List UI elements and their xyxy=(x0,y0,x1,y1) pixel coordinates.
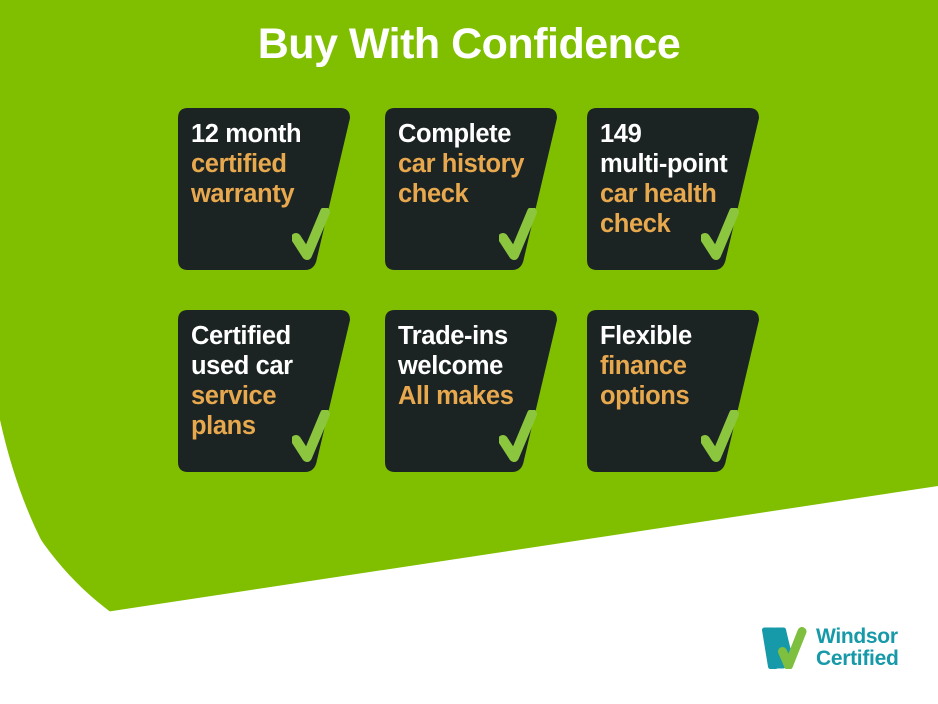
card-text: Flexiblefinanceoptions xyxy=(600,321,751,411)
logo-wordmark: Windsor Certified xyxy=(816,626,898,670)
card-text: Certifiedused carserviceplans xyxy=(191,321,342,441)
feature-card-149-multi-point-car-health-check: 149multi-pointcar healthcheck xyxy=(587,108,759,270)
feature-card-flexible-finance-options: Flexiblefinanceoptions xyxy=(587,310,759,472)
feature-card-complete-car-history-check: Completecar historycheck xyxy=(385,108,557,270)
card-text: 12 monthcertifiedwarranty xyxy=(191,119,342,209)
card-line: welcome xyxy=(398,351,549,381)
card-line: used car xyxy=(191,351,342,381)
logo-line-1: Windsor xyxy=(816,626,898,648)
card-line: check xyxy=(398,179,549,209)
card-line: Flexible xyxy=(600,321,751,351)
card-line: plans xyxy=(191,411,342,441)
card-line: 12 month xyxy=(191,119,342,149)
card-line: Trade-ins xyxy=(398,321,549,351)
card-line: service xyxy=(191,381,342,411)
card-text: 149multi-pointcar healthcheck xyxy=(600,119,751,239)
card-line: options xyxy=(600,381,751,411)
card-line: Certified xyxy=(191,321,342,351)
promo-banner: Buy With Confidence 12 monthcertifiedwar… xyxy=(0,0,938,704)
windsor-w-icon xyxy=(761,627,807,669)
card-line: multi-point xyxy=(600,149,751,179)
logo-line-2: Certified xyxy=(816,648,898,670)
card-line: car health xyxy=(600,179,751,209)
feature-card-trade-ins-welcome-all-makes: Trade-inswelcomeAll makes xyxy=(385,310,557,472)
page-title: Buy With Confidence xyxy=(0,18,938,70)
card-line: warranty xyxy=(191,179,342,209)
card-line: car history xyxy=(398,149,549,179)
card-text: Trade-inswelcomeAll makes xyxy=(398,321,549,411)
feature-card-certified-used-car-service-plans: Certifiedused carserviceplans xyxy=(178,310,350,472)
card-line: All makes xyxy=(398,381,549,411)
card-line: certified xyxy=(191,149,342,179)
feature-card-12-month-certified-warranty: 12 monthcertifiedwarranty xyxy=(178,108,350,270)
card-line: Complete xyxy=(398,119,549,149)
card-line: check xyxy=(600,209,751,239)
card-text: Completecar historycheck xyxy=(398,119,549,209)
card-line: finance xyxy=(600,351,751,381)
card-line: 149 xyxy=(600,119,751,149)
windsor-certified-logo: Windsor Certified xyxy=(761,626,898,670)
